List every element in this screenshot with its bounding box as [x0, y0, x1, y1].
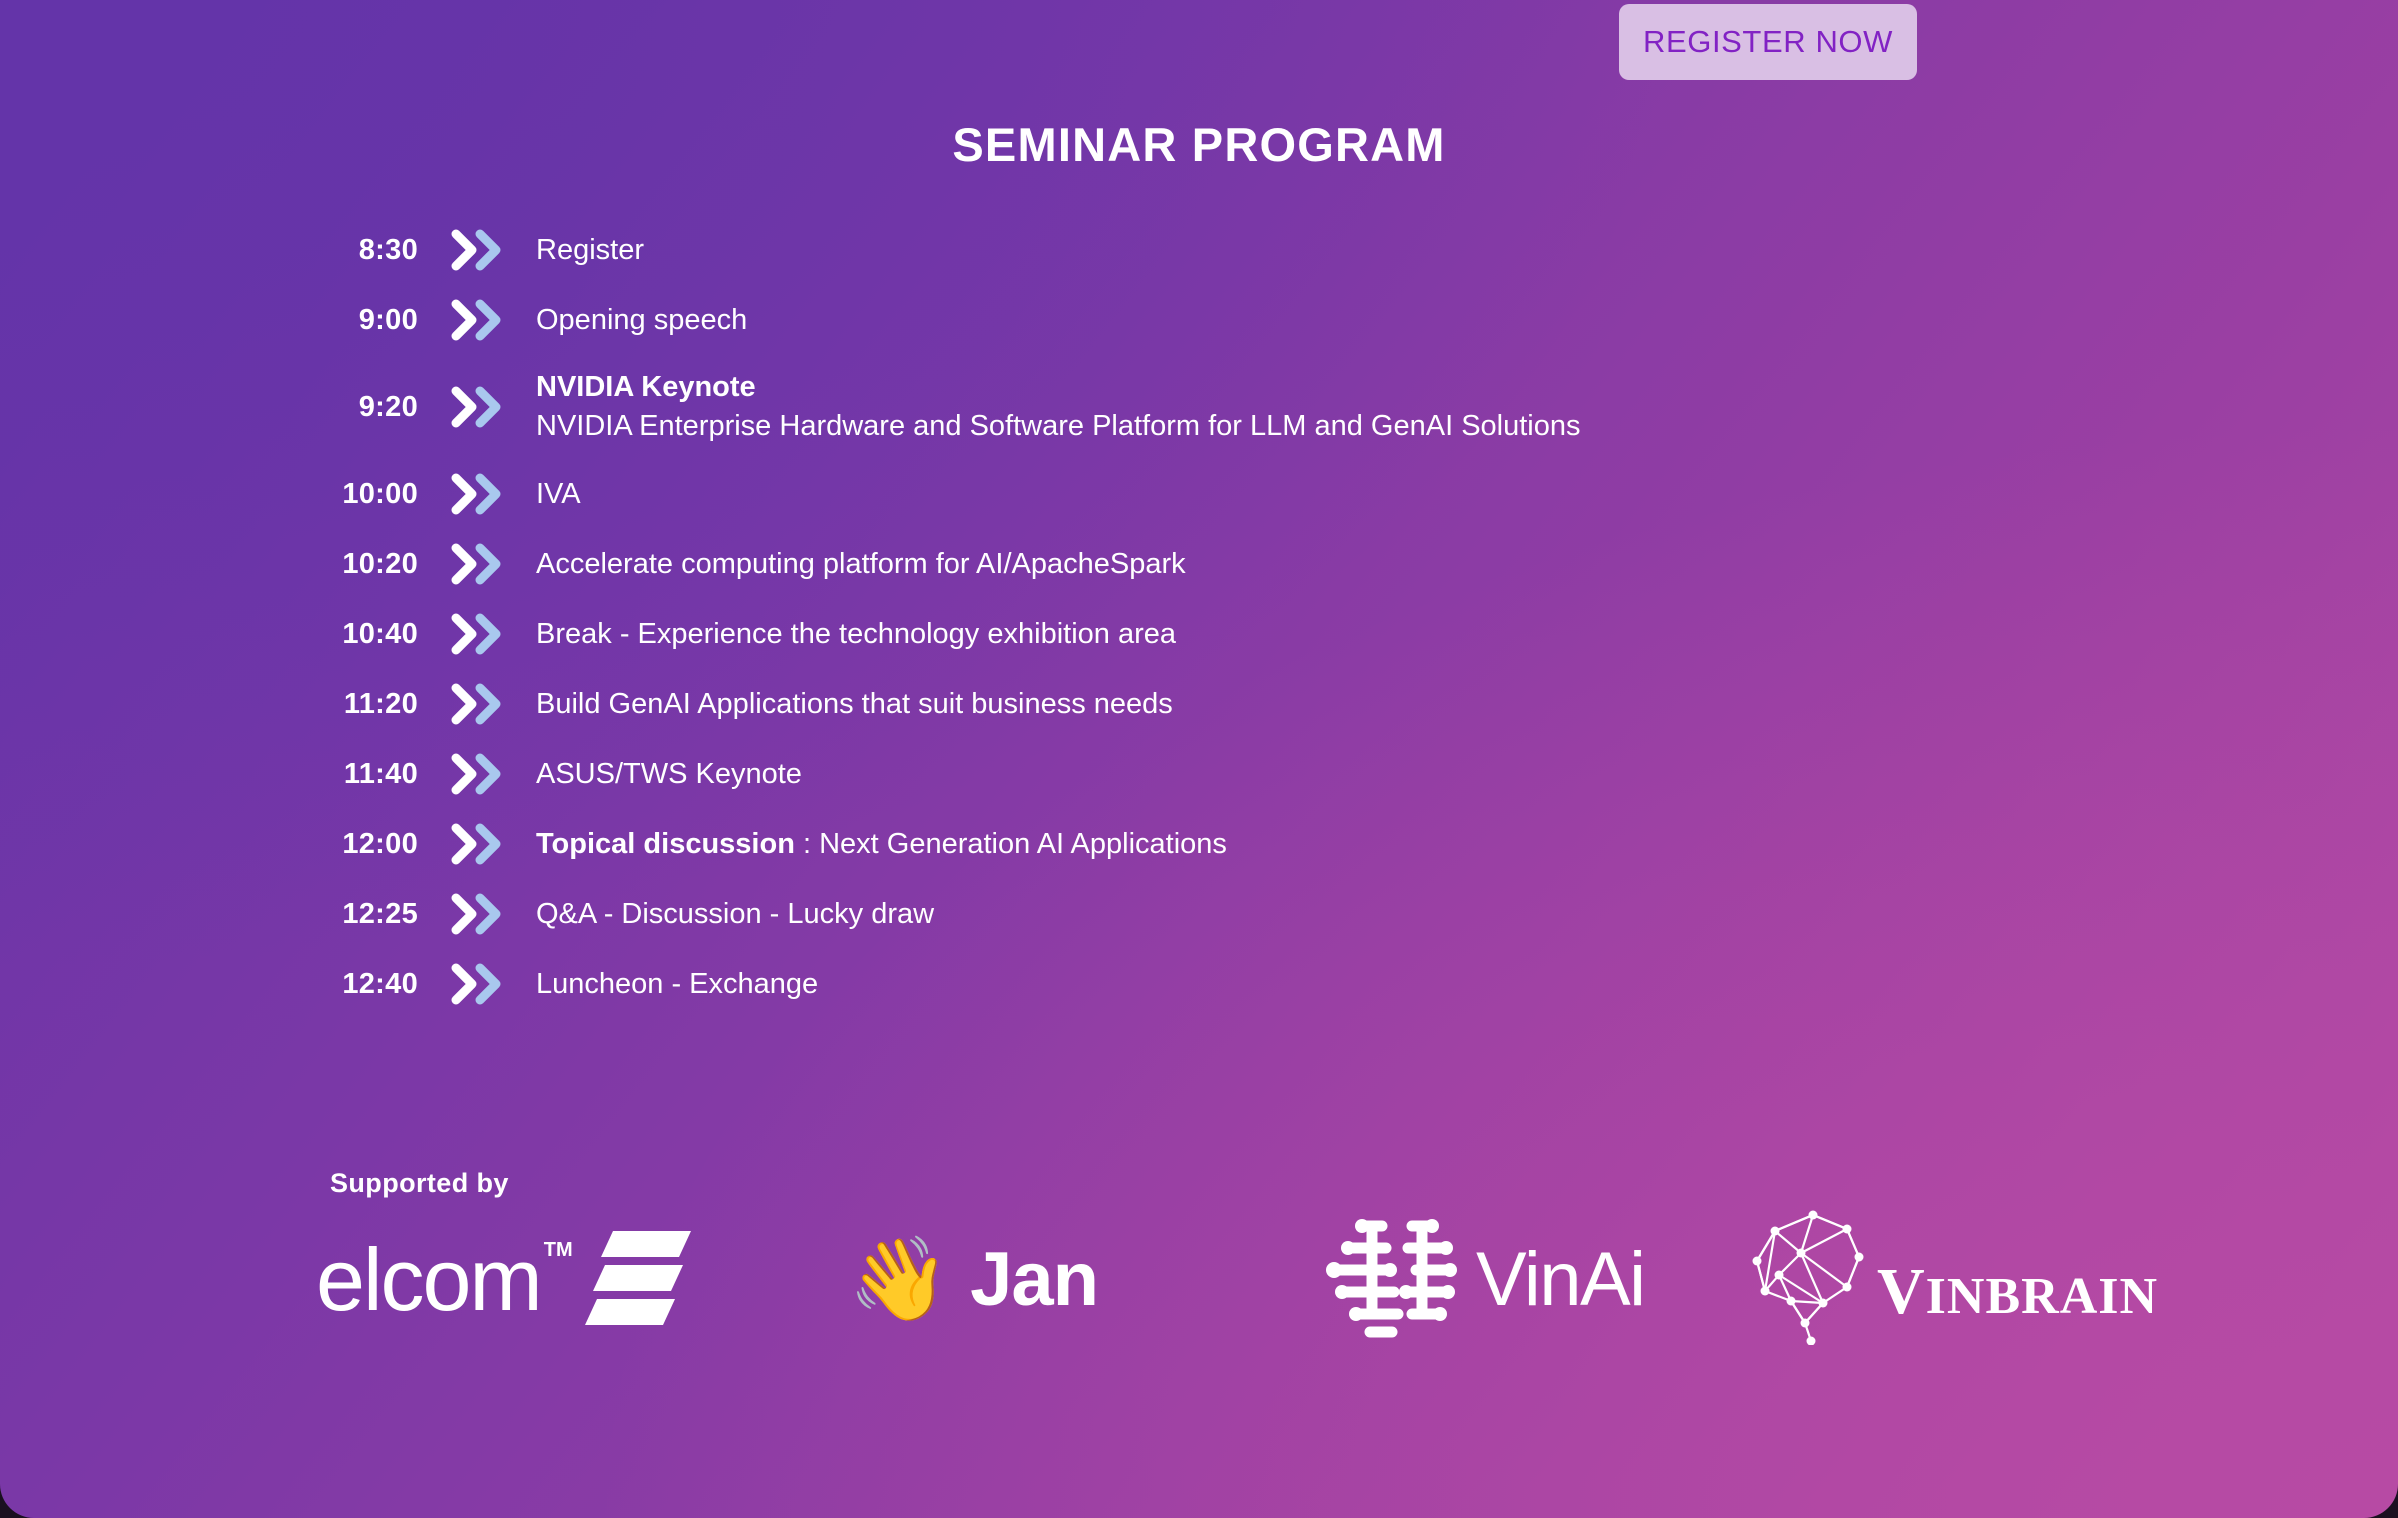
vinbrain-wordmark-rest: INBRAIN [1926, 1268, 2158, 1325]
double-chevron-right-icon [450, 893, 514, 935]
schedule-text-rest: : Next Generation AI Applications [795, 828, 1227, 860]
sponsor-logo-row: elcom TM 👋 Jan [300, 1205, 2130, 1355]
elcom-trademark-symbol: TM [544, 1239, 573, 1262]
schedule-time: 8:30 [296, 234, 418, 267]
schedule-text-title: NVIDIA Keynote [536, 368, 1581, 407]
schedule-time: 11:40 [296, 758, 418, 791]
schedule-row: 10:00 IVA [296, 459, 1996, 529]
double-chevron-right-icon [450, 229, 514, 271]
double-chevron-right-icon [450, 963, 514, 1005]
schedule-text: Topical discussion : Next Generation AI … [536, 825, 1227, 864]
schedule-row: 10:40 Break - Experience the technology … [296, 599, 1996, 669]
schedule-text: Break - Experience the technology exhibi… [536, 615, 1176, 654]
schedule-time: 12:25 [296, 898, 418, 931]
schedule-text: Accelerate computing platform for AI/Apa… [536, 545, 1186, 584]
schedule-row: 12:40 Luncheon - Exchange [296, 949, 1996, 1019]
schedule-row: 9:00 Opening speech [296, 285, 1996, 355]
jan-wordmark: Jan [970, 1242, 1098, 1318]
schedule-row: 9:20 NVIDIA Keynote NVIDIA Enterprise Ha… [296, 355, 1996, 459]
schedule-text: Q&A - Discussion - Lucky draw [536, 895, 934, 934]
schedule-time: 10:20 [296, 548, 418, 581]
double-chevron-right-icon [450, 823, 514, 865]
double-chevron-right-icon [450, 683, 514, 725]
vinbrain-wordmark: VINBRAIN [1877, 1259, 2158, 1325]
supported-by-label: Supported by [330, 1168, 509, 1199]
schedule-row: 12:00 Topical discussion : Next Generati… [296, 809, 1996, 879]
sponsor-logo-vinbrain: VINBRAIN [1735, 1197, 2158, 1347]
double-chevron-right-icon [450, 543, 514, 585]
schedule-time: 12:40 [296, 968, 418, 1001]
schedule-text: Luncheon - Exchange [536, 965, 818, 1004]
schedule-text: IVA [536, 475, 581, 514]
register-now-button[interactable]: REGISTER NOW [1619, 4, 1917, 80]
schedule-time: 9:20 [296, 391, 418, 424]
schedule-row: 11:40 ASUS/TWS Keynote [296, 739, 1996, 809]
sponsor-logo-jan: 👋 Jan [848, 1205, 1098, 1355]
vinbrain-wordmark-initial: V [1877, 1255, 1926, 1328]
schedule-time: 9:00 [296, 304, 418, 337]
vinai-circuit-mark-icon [1320, 1214, 1462, 1347]
schedule-list: 8:30 Register 9:00 Opening speech 9:20 N… [296, 215, 1996, 1019]
schedule-time: 10:40 [296, 618, 418, 651]
vinbrain-network-brain-icon [1735, 1195, 1895, 1350]
waving-hand-emoji-icon: 👋 [848, 1239, 950, 1321]
sponsor-logo-elcom: elcom TM [316, 1205, 695, 1355]
double-chevron-right-icon [450, 473, 514, 515]
page-title: SEMINAR PROGRAM [0, 117, 2398, 172]
schedule-text: ASUS/TWS Keynote [536, 755, 802, 794]
schedule-row: 10:20 Accelerate computing platform for … [296, 529, 1996, 599]
schedule-text: NVIDIA Keynote NVIDIA Enterprise Hardwar… [536, 368, 1581, 445]
elcom-e-mark-icon [585, 1227, 695, 1334]
sponsor-logo-vinai: VinAi [1320, 1205, 1645, 1355]
schedule-text: Register [536, 231, 644, 270]
elcom-wordmark: elcom [316, 1236, 541, 1324]
schedule-text: Opening speech [536, 301, 747, 340]
seminar-program-page: REGISTER NOW SEMINAR PROGRAM 8:30 Regist… [0, 0, 2398, 1518]
schedule-row: 8:30 Register [296, 215, 1996, 285]
schedule-text-bold-prefix: Topical discussion [536, 828, 795, 860]
schedule-row: 12:25 Q&A - Discussion - Lucky draw [296, 879, 1996, 949]
vinai-wordmark: VinAi [1476, 1242, 1645, 1318]
schedule-time: 10:00 [296, 478, 418, 511]
schedule-time: 11:20 [296, 688, 418, 721]
schedule-time: 12:00 [296, 828, 418, 861]
schedule-row: 11:20 Build GenAI Applications that suit… [296, 669, 1996, 739]
schedule-text: Build GenAI Applications that suit busin… [536, 685, 1173, 724]
double-chevron-right-icon [450, 299, 514, 341]
schedule-text-subtitle: NVIDIA Enterprise Hardware and Software … [536, 407, 1581, 446]
double-chevron-right-icon [450, 613, 514, 655]
double-chevron-right-icon [450, 386, 514, 428]
double-chevron-right-icon [450, 753, 514, 795]
